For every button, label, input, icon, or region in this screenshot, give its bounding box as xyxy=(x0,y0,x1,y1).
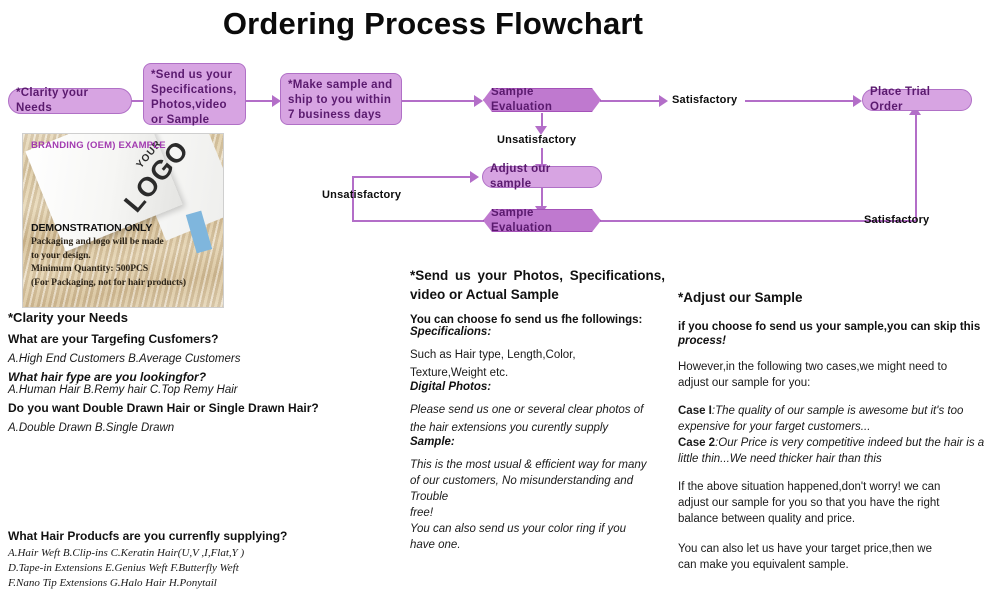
sample-line-1: This is the most usual & efficient way f… xyxy=(410,457,665,473)
question-hair-products: What Hair Producfs are you currenfly sup… xyxy=(8,529,398,543)
target-price-line-1: You can also let us have your target pri… xyxy=(678,541,996,557)
answer-hair-type: A.Human Hair B.Remy hair C.Top Remy Hair xyxy=(8,384,398,396)
section-heading: *Adjust our Sample xyxy=(678,290,996,305)
specifications-line-2: Texture,Weight etc. xyxy=(410,365,665,381)
edge-label-satisfactory-bottom: Satisfactory xyxy=(864,214,929,226)
edge-label-unsatisfactory-left: Unsatisfactory xyxy=(322,189,401,201)
sample-line-3: Trouble xyxy=(410,489,665,505)
lead-process-italic: process! xyxy=(678,335,996,347)
send-us-photos-section: *Send us your Photos, Specifications, vi… xyxy=(410,266,665,553)
case-2: Case 2:Our Price is very competitive ind… xyxy=(678,435,996,467)
node-make-sample[interactable]: *Make sample and ship to you within 7 bu… xyxy=(280,73,402,125)
edge-label-satisfactory-top: Satisfactory xyxy=(672,94,737,106)
case-2-label: Case 2 xyxy=(678,437,715,449)
arrowhead-to-place-trial-order xyxy=(853,95,862,107)
sample-line-5: You can also send us your color ring if … xyxy=(410,521,665,537)
demo-line-4: (For Packaging, not for hair products) xyxy=(31,277,219,291)
demo-line-1: Packaging and logo will be made xyxy=(31,236,219,250)
branding-oem-label: BRANDING (OEM) EXAMPLE xyxy=(31,140,166,151)
node-sample-evaluation-1[interactable]: Sample Evaluation xyxy=(483,88,601,112)
if-above-line-1: If the above situation happened,don't wo… xyxy=(678,479,996,495)
node-label: *Send us your Specifications, Photos,vid… xyxy=(151,68,238,128)
node-adjust-our-sample[interactable]: Adjust our sample xyxy=(482,166,602,188)
case-1-text: :The quality of our sample is awesome bu… xyxy=(678,405,963,433)
node-label: *Make sample and ship to you within 7 bu… xyxy=(288,78,394,123)
if-above-line-3: balance between quality and price. xyxy=(678,511,996,527)
question-targeting-customers: What are your Targefing Cusfomers? xyxy=(8,332,398,346)
sample-line-2: of our customers, No misunderstanding an… xyxy=(410,473,665,489)
section-heading: *Send us your Photos, Specifications, vi… xyxy=(410,266,665,304)
connector-eval2-left xyxy=(352,220,484,222)
page-title: Ordering Process Flowchart xyxy=(0,6,1000,42)
arrowhead-to-satisfactory-top xyxy=(659,95,668,107)
demonstration-only-title: DEMONSTRATION ONLY xyxy=(31,222,219,234)
arrowhead-to-eval1 xyxy=(474,95,483,107)
if-above-line-2: adjust our sample for you so that you ha… xyxy=(678,495,996,511)
node-send-specifications[interactable]: *Send us your Specifications, Photos,vid… xyxy=(143,63,246,125)
sample-line-6: have one. xyxy=(410,537,665,553)
branding-example-photo: YOUR LOGO BRANDING (OEM) EXAMPLE DEMONST… xyxy=(22,133,224,308)
edge-label-unsatisfactory-top: Unsatisfactory xyxy=(497,134,576,146)
answer-drawn-hair: A.Double Drawn B.Single Drawn xyxy=(8,422,398,434)
node-place-trial-order[interactable]: Place Trial Order xyxy=(862,89,972,111)
hair-products-line-1: A.Hair Weft B.Clip-ins C.Keratin Hair(U,… xyxy=(8,546,398,561)
demo-line-3: Minimum Quantity: 500PCS xyxy=(31,263,219,277)
lead-skip-process: if you choose fo send us your sample,you… xyxy=(678,319,996,335)
question-hair-type: What hair fype are you lookingfor? xyxy=(8,370,398,384)
sample-line-4: free! xyxy=(410,505,665,521)
case-1-label: Case I xyxy=(678,405,712,417)
node-label: Sample Evaluation xyxy=(491,85,593,115)
subheading-digital-photos: Digital Photos: xyxy=(410,381,665,393)
digital-photos-line-1: Please send us one or several clear phot… xyxy=(410,402,665,418)
node-clarity-your-needs[interactable]: *Clarity your Needs xyxy=(8,88,132,114)
specifications-line-1: Such as Hair type, Length,Color, xyxy=(410,347,665,363)
connector-eval1-to-satisfactory xyxy=(600,100,663,102)
connector-eval2-to-satisfactory-bottom xyxy=(600,220,858,222)
connector-satisfactory-bottom-up xyxy=(915,113,917,221)
case-2-text: :Our Price is very competitive indeed bu… xyxy=(678,437,984,465)
demo-line-2: to your design. xyxy=(31,250,219,264)
node-sample-evaluation-2[interactable]: Sample Evaluation xyxy=(483,209,601,232)
question-drawn-hair: Do you want Double Drawn Hair or Single … xyxy=(8,401,398,415)
lead-choose-followings: You can choose fo send us fhe followings… xyxy=(410,314,665,326)
hair-products-line-3: F.Nano Tip Extensions G.Halo Hair H.Pony… xyxy=(8,576,398,591)
node-label: Place Trial Order xyxy=(870,85,964,115)
node-label: Adjust our sample xyxy=(490,162,594,192)
digital-photos-line-2: the hair extensions you curently supply xyxy=(410,420,665,436)
node-label: Sample Evaluation xyxy=(491,206,593,236)
hair-products-section: What Hair Producfs are you currenfly sup… xyxy=(8,529,398,591)
connector-loop-to-adjust xyxy=(352,176,474,178)
adjust-our-sample-section: *Adjust our Sample if you choose fo send… xyxy=(678,290,996,573)
flowchart-page: Ordering Process Flowchart xyxy=(0,0,1000,597)
however-line-1: However,in the following two cases,we mi… xyxy=(678,359,996,375)
case-1: Case I:The quality of our sample is awes… xyxy=(678,403,996,435)
photo-caption: DEMONSTRATION ONLY Packaging and logo wi… xyxy=(31,222,219,290)
subheading-sample: Sample: xyxy=(410,436,665,448)
subheading-specifications: Specificalions: xyxy=(410,326,665,338)
however-line-2: adjust our sample for you: xyxy=(678,375,996,391)
connector-satisfactory-to-place xyxy=(745,100,857,102)
clarity-your-needs-section: *Clarity your Needs What are your Targef… xyxy=(8,310,398,439)
target-price-line-2: can make you equivalent sample. xyxy=(678,557,996,573)
connector-make-to-eval1 xyxy=(400,100,478,102)
node-label: *Clarity your Needs xyxy=(16,86,124,116)
section-heading: *Clarity your Needs xyxy=(8,310,398,325)
arrowhead-loop-to-adjust xyxy=(470,171,479,183)
hair-products-line-2: D.Tape-in Extensions E.Genius Weft F.But… xyxy=(8,561,398,576)
answer-targeting-customers: A.High End Customers B.Average Customers xyxy=(8,353,398,365)
